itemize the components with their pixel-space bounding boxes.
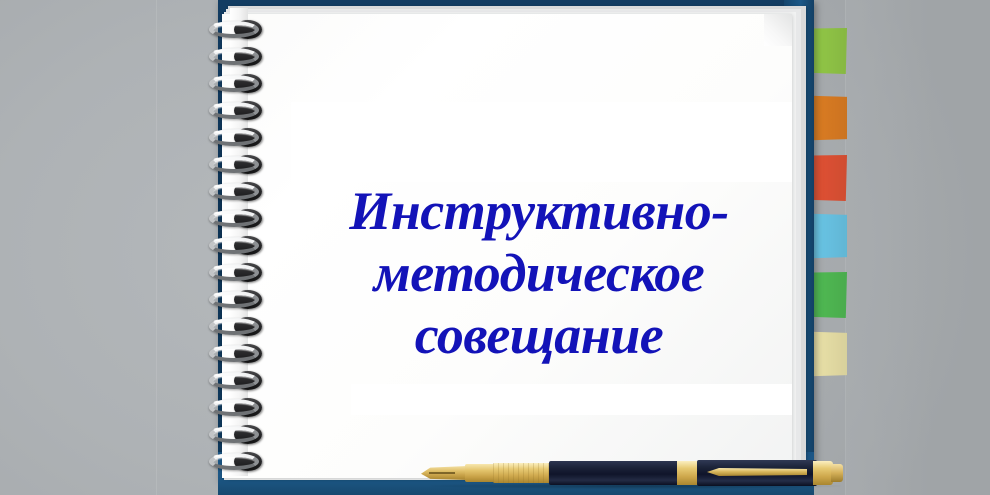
spiral-ring [208,290,266,310]
spiral-ring-gloss [214,49,244,53]
spiral-ring-gloss [214,400,244,404]
spiral-ring [208,101,266,121]
background-seam-left [156,0,157,495]
pen-gold-section [493,463,551,483]
spiral-ring [208,155,266,175]
spiral-ring-gloss [214,454,244,458]
spiral-ring-gloss [214,238,244,242]
slide-canvas: Инструктивно- методическое совещание [0,0,990,495]
spiral-ring-gloss [214,346,244,350]
background-shade-right [845,0,990,495]
pen-end-cap [831,464,843,482]
spiral-ring [208,20,266,40]
title-line-3: совещание [274,304,804,366]
pen-end-band [813,461,833,485]
spiral-ring [208,47,266,67]
page-corner-fold [764,14,792,46]
slide-title: Инструктивно- методическое совещание [274,180,804,366]
spiral-ring-gloss [214,265,244,269]
spiral-ring [208,425,266,445]
fountain-pen [421,458,856,486]
notebook: Инструктивно- методическое совещание [206,0,814,495]
spiral-binding [206,8,268,478]
spiral-ring [208,263,266,283]
spiral-ring-gloss [214,103,244,107]
spiral-ring-gloss [214,22,244,26]
title-line-1: Инструктивно- [274,180,804,242]
pen-gold-ridges [493,463,551,483]
spiral-ring-gloss [214,211,244,215]
pen-nib-slit [429,472,455,474]
title-line-2: методическое [274,242,804,304]
spiral-ring-gloss [214,319,244,323]
spiral-ring [208,182,266,202]
pen-grip [465,464,495,482]
pen-clip [707,468,807,476]
spiral-ring [208,128,266,148]
spiral-ring [208,317,266,337]
pen-barrel [549,461,679,485]
spiral-ring [208,344,266,364]
spiral-ring-gloss [214,292,244,296]
white-panel-upper [291,102,792,182]
white-panel-lower [351,384,792,415]
spiral-ring [208,236,266,256]
spiral-ring-gloss [214,76,244,80]
spiral-ring-gloss [214,427,244,431]
spiral-ring-gloss [214,373,244,377]
spiral-ring-gloss [214,184,244,188]
spiral-ring [208,398,266,418]
spiral-ring [208,371,266,391]
spiral-ring-gloss [214,130,244,134]
notebook-page: Инструктивно- методическое совещание [222,14,792,478]
spiral-ring [208,74,266,94]
spiral-ring [208,452,266,472]
spiral-ring [208,209,266,229]
pen-center-band [677,461,699,485]
spiral-ring-gloss [214,157,244,161]
